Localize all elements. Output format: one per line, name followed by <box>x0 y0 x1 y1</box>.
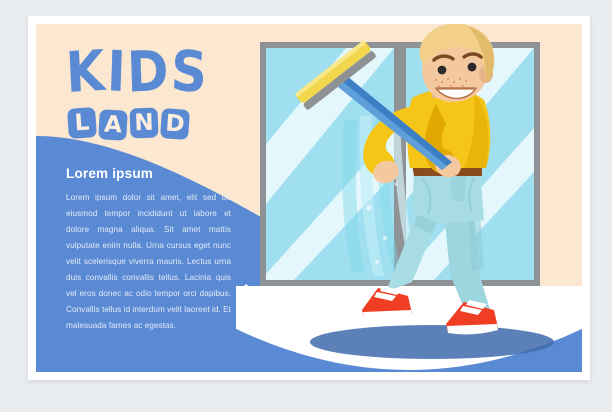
poster-card: KIDS L A N D Lorem ipsum Lorem ipsum dol… <box>36 24 582 372</box>
logo-tile-d: D <box>160 108 190 140</box>
illustration-boy-cleaning-window <box>236 24 582 372</box>
poster-card-frame: KIDS L A N D Lorem ipsum Lorem ipsum dol… <box>28 16 590 380</box>
body-paragraph: Lorem ipsum dolor sit amet, elit sed do … <box>66 190 231 334</box>
logo-letter-d: D <box>127 45 171 100</box>
logo-tile-n: N <box>129 108 158 139</box>
section-heading: Lorem ipsum <box>66 166 231 181</box>
logo-letter-k: K <box>65 45 107 100</box>
logo-letter-s: S <box>170 45 209 100</box>
logo-land-wordmark: L A N D <box>68 108 189 140</box>
logo-tile-a: A <box>98 109 128 140</box>
logo-letter-i: I <box>106 46 127 100</box>
text-block: Lorem ipsum Lorem ipsum dolor sit amet, … <box>66 166 231 334</box>
poster-canvas: KIDS L A N D Lorem ipsum Lorem ipsum dol… <box>0 0 612 412</box>
logo-tile-l: L <box>67 107 97 139</box>
